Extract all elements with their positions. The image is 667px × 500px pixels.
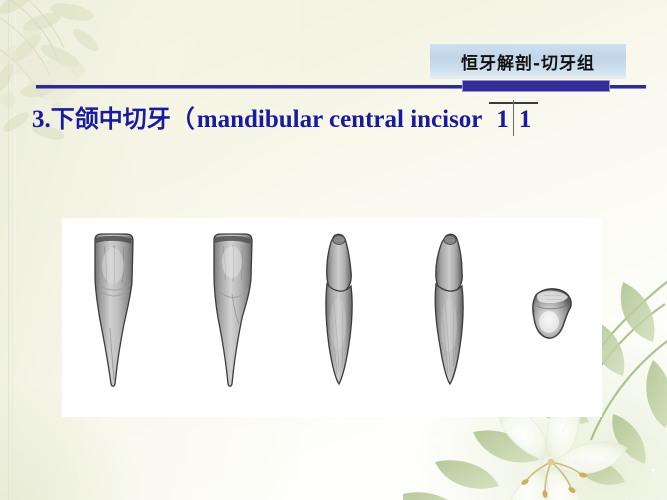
notation-midline (513, 100, 514, 136)
figure-panel (62, 218, 602, 417)
page-title: 3. 下颌中切牙 （ mandibular central incisor 11 (30, 99, 536, 134)
notation-left-digit: 1 (491, 106, 514, 133)
teeth-row (62, 218, 602, 417)
tooth-incisal-view (524, 284, 578, 346)
title-english: mandibular central incisor (197, 106, 483, 134)
tooth-labial-view (84, 232, 144, 388)
tooth-distal-view (422, 232, 478, 388)
title-chinese: 下颌中切牙 (51, 99, 171, 134)
header-badge-label: 恒牙解剖-切牙组 (461, 49, 595, 74)
tooth-mesial-view (312, 232, 368, 388)
header-badge: 恒牙解剖-切牙组 (430, 44, 626, 79)
dental-notation: 11 (491, 107, 536, 132)
tooth-lingual-view (202, 232, 262, 388)
leaf-watermark-icon (0, 0, 176, 192)
header-divider-block (462, 80, 610, 92)
notation-right-digit: 1 (514, 106, 537, 133)
title-index: 3. (32, 106, 51, 134)
slide-canvas: 恒牙解剖-切牙组 3. 下颌中切牙 （ mandibular central i… (0, 0, 667, 500)
title-open-paren: （ (171, 99, 195, 134)
